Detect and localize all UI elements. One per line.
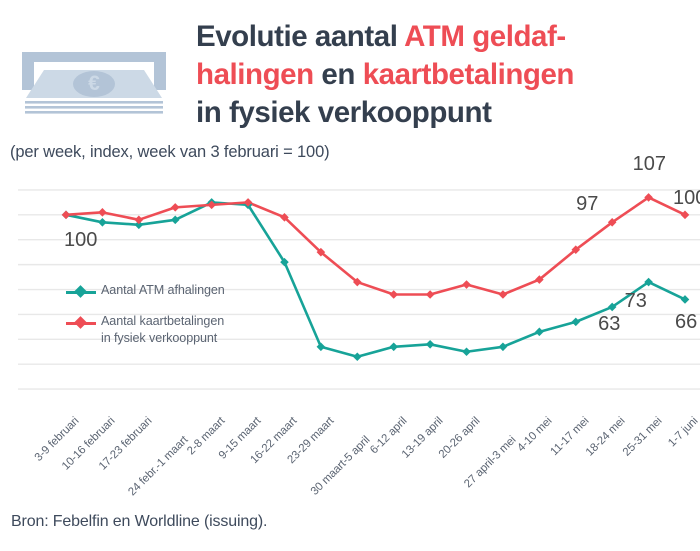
- legend-marker-teal-icon: [66, 284, 96, 300]
- legend-label-line1: Aantal kaartbetalingen: [101, 314, 224, 328]
- title-segment-2: ATM geldaf-: [404, 20, 566, 53]
- data-label: 66: [675, 311, 697, 334]
- x-axis-tick-label: 24 febr.-1 maart: [127, 434, 191, 498]
- title-segment-5: kaartbetalingen: [363, 58, 574, 91]
- x-axis-tick-label: 1-7 juni: [666, 415, 700, 449]
- svg-text:€: €: [88, 72, 100, 95]
- data-point: [535, 328, 544, 337]
- data-point: [389, 290, 398, 299]
- x-axis-labels: 3-9 februari10-16 februari17-23 februari…: [0, 410, 700, 505]
- data-point: [571, 318, 580, 327]
- data-point: [171, 216, 180, 225]
- data-point: [135, 216, 144, 225]
- legend-label-atm: Aantal ATM afhalingen: [96, 282, 225, 299]
- data-point: [681, 211, 690, 220]
- title-segment-6: in fysiek verkooppunt: [196, 96, 491, 129]
- data-label: 97: [576, 193, 598, 216]
- data-point: [426, 290, 435, 299]
- x-axis-tick-label: 27 april-3 mei: [462, 434, 518, 490]
- chart-subtitle: (per week, index, week van 3 februari = …: [10, 143, 329, 162]
- atm-cash-dispenser-icon: €: [14, 48, 174, 120]
- data-point: [98, 218, 107, 227]
- data-label: 107: [633, 153, 666, 176]
- data-point: [171, 203, 180, 212]
- data-point: [499, 290, 508, 299]
- legend-marker-red-icon: [66, 315, 96, 331]
- data-point: [389, 342, 398, 351]
- data-point: [353, 352, 362, 361]
- legend-item-kaartbetalingen: Aantal kaartbetalingen in fysiek verkoop…: [66, 313, 316, 347]
- chart-legend: Aantal ATM afhalingen Aantal kaartbetali…: [66, 282, 316, 360]
- data-label: 73: [625, 290, 647, 313]
- legend-label-kaartbetalingen: Aantal kaartbetalingen in fysiek verkoop…: [96, 313, 224, 347]
- x-axis-tick-label: 25-31 mei: [620, 415, 664, 459]
- data-point: [462, 280, 471, 289]
- page-title: Evolutie aantal ATM geldaf- halingen en …: [196, 18, 692, 132]
- data-point: [462, 347, 471, 356]
- chart-header: € Evolutie aantal ATM geldaf- halingen e…: [0, 0, 700, 140]
- source-note: Bron: Febelfin en Worldline (issuing).: [11, 513, 267, 531]
- x-axis-tick-label: 30 maart-5 april: [309, 434, 373, 498]
- data-point: [499, 342, 508, 351]
- data-label: 100: [673, 187, 700, 210]
- title-segment-4: en: [314, 58, 363, 91]
- title-segment-3: halingen: [196, 58, 314, 91]
- title-segment-1: Evolutie aantal: [196, 20, 404, 53]
- legend-item-atm: Aantal ATM afhalingen: [66, 282, 316, 300]
- data-label: 100: [64, 229, 97, 252]
- data-label: 63: [598, 313, 620, 336]
- data-point: [426, 340, 435, 349]
- legend-label-line2: in fysiek verkooppunt: [101, 331, 217, 345]
- data-point: [62, 211, 71, 220]
- data-point: [681, 295, 690, 304]
- data-point: [317, 342, 326, 351]
